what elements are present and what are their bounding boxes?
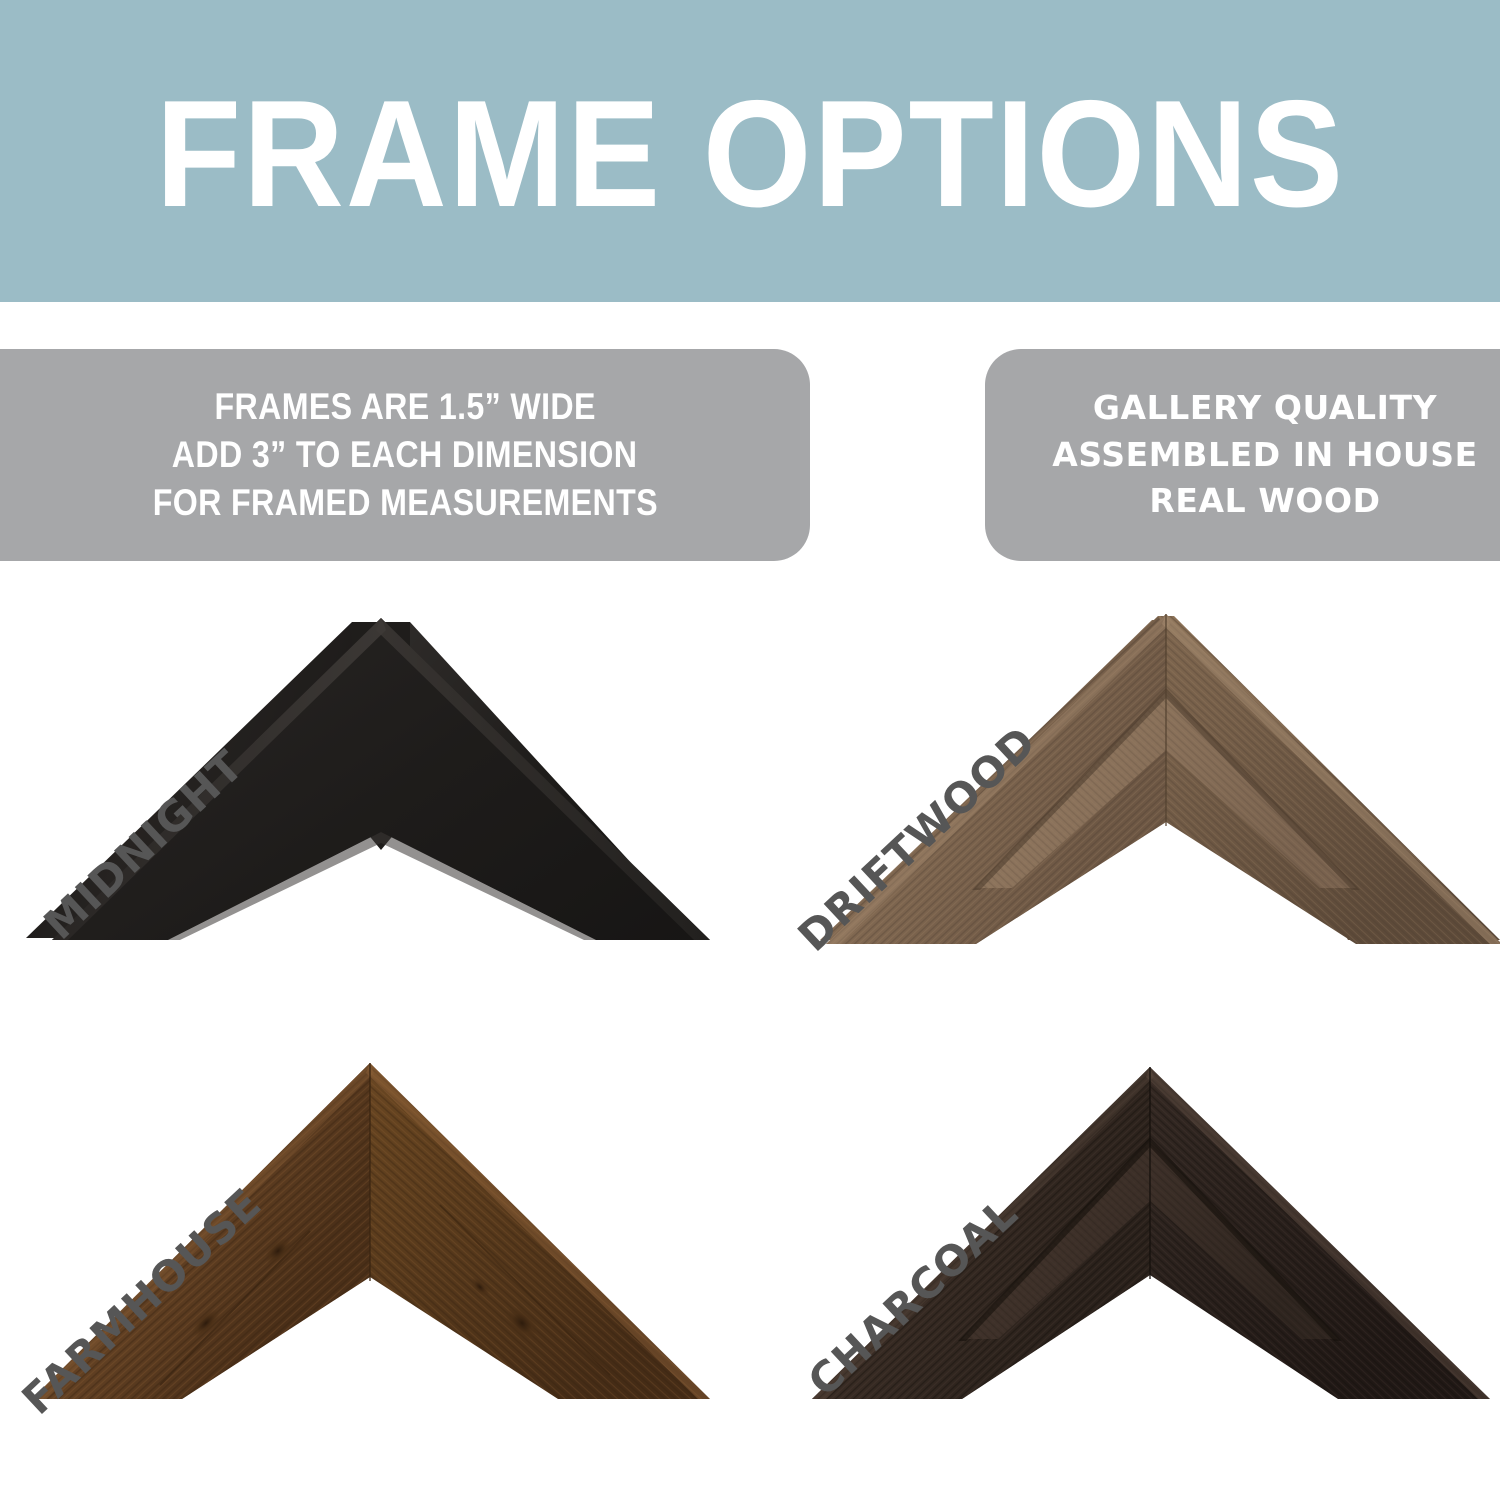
frame-swatch-farmhouse[interactable]: FARMHOUSE	[10, 1055, 730, 1475]
sizing-info-line-2: ADD 3” TO EACH DIMENSION	[172, 431, 638, 479]
sizing-info-line-3: FOR FRAMED MEASUREMENTS	[152, 479, 657, 527]
charcoal-frame-corner-icon	[790, 1055, 1500, 1475]
quality-info-line-2: ASSEMBLED IN HOUSE	[1052, 432, 1478, 479]
quality-info-line-3: REAL WOOD	[1149, 478, 1380, 525]
farmhouse-frame-corner-icon	[10, 1055, 730, 1475]
quality-info-line-1: GALLERY QUALITY	[1093, 385, 1437, 432]
midnight-frame-corner-icon	[10, 600, 730, 1020]
frame-swatch-midnight[interactable]: MIDNIGHT	[10, 600, 730, 1020]
driftwood-frame-corner-icon	[800, 600, 1500, 1020]
quality-info-banner: GALLERY QUALITY ASSEMBLED IN HOUSE REAL …	[985, 349, 1500, 561]
sizing-info-banner: FRAMES ARE 1.5” WIDE ADD 3” TO EACH DIME…	[0, 349, 810, 561]
frame-swatch-charcoal[interactable]: CHARCOAL	[790, 1055, 1500, 1475]
frame-swatch-driftwood[interactable]: DRIFTWOOD	[800, 600, 1500, 1020]
sizing-info-line-1: FRAMES ARE 1.5” WIDE	[214, 383, 595, 431]
page-title: FRAME OPTIONS	[155, 78, 1344, 230]
header-band: FRAME OPTIONS	[0, 0, 1500, 302]
